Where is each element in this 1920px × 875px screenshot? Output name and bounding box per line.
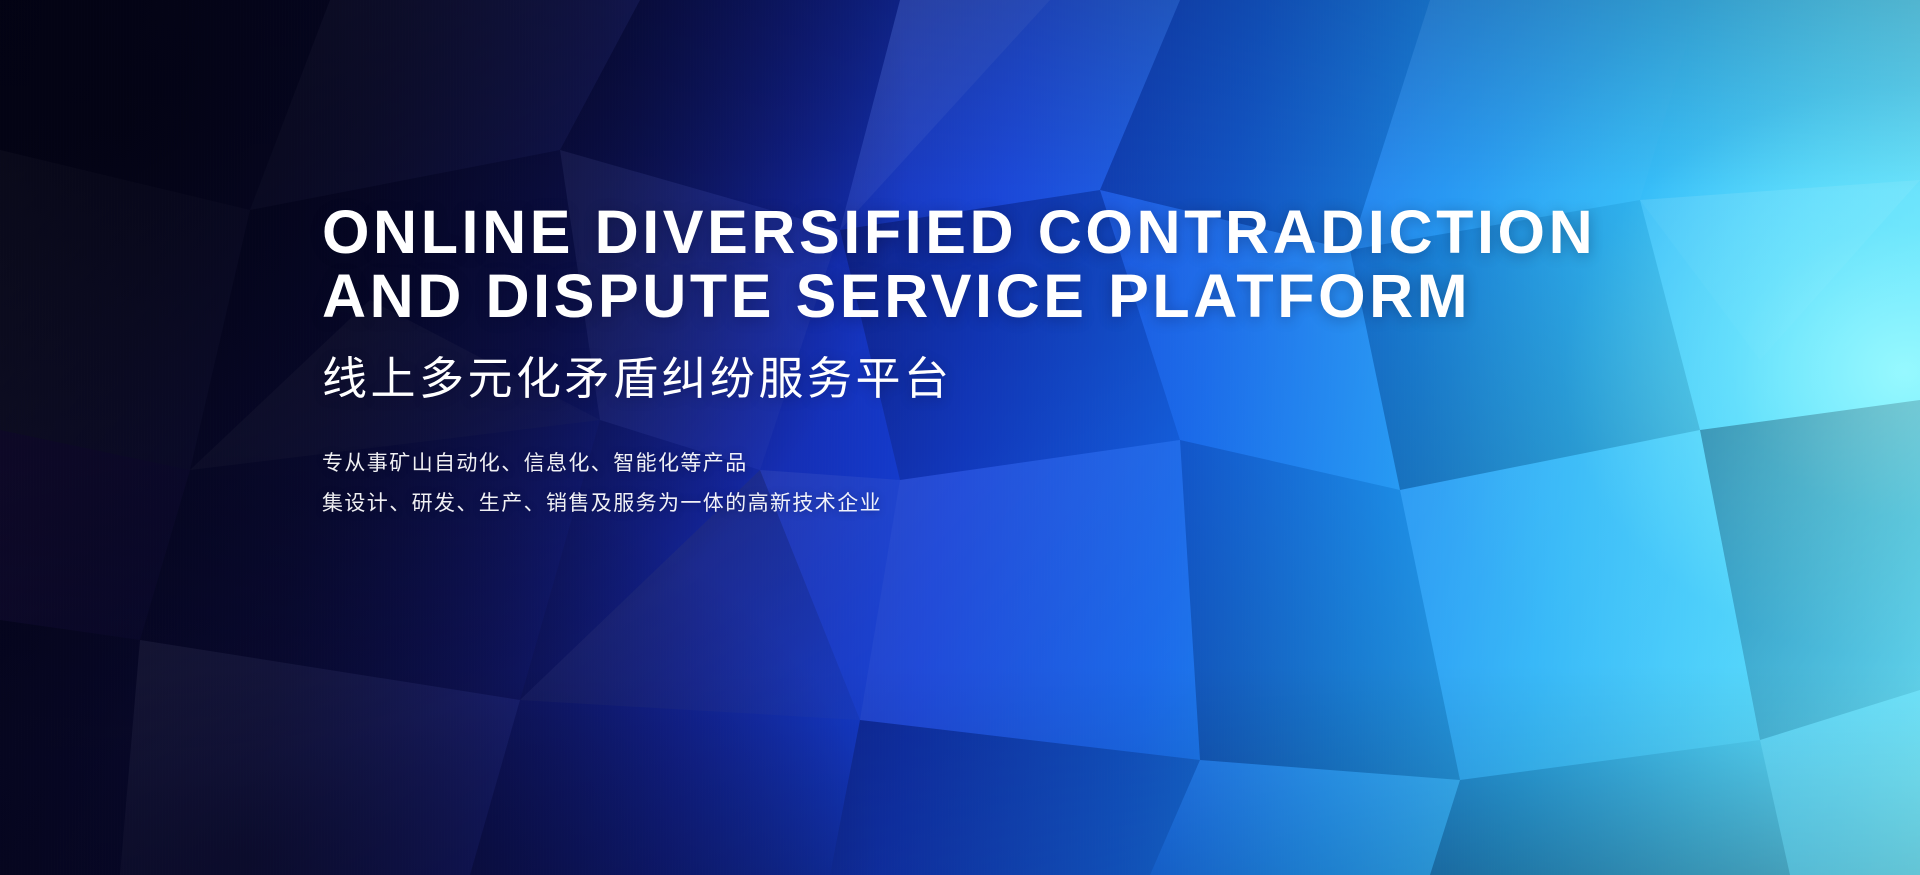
banner-content: ONLINE DIVERSIFIED CONTRADICTION AND DIS… — [322, 200, 1672, 524]
banner-subtitle-block: 专从事矿山自动化、信息化、智能化等产品 集设计、研发、生产、销售及服务为一体的高… — [322, 408, 1672, 524]
banner-title-english-line2: AND DISPUTE SERVICE PLATFORM — [322, 264, 1672, 328]
banner-subtitle-line2: 集设计、研发、生产、销售及服务为一体的高新技术企业 — [322, 484, 1672, 524]
hero-banner: ONLINE DIVERSIFIED CONTRADICTION AND DIS… — [0, 0, 1920, 875]
banner-subtitle-line1: 专从事矿山自动化、信息化、智能化等产品 — [322, 444, 1672, 484]
banner-title-english-line1: ONLINE DIVERSIFIED CONTRADICTION — [322, 200, 1672, 264]
banner-title-chinese: 线上多元化矛盾纠纷服务平台 — [322, 328, 1672, 408]
